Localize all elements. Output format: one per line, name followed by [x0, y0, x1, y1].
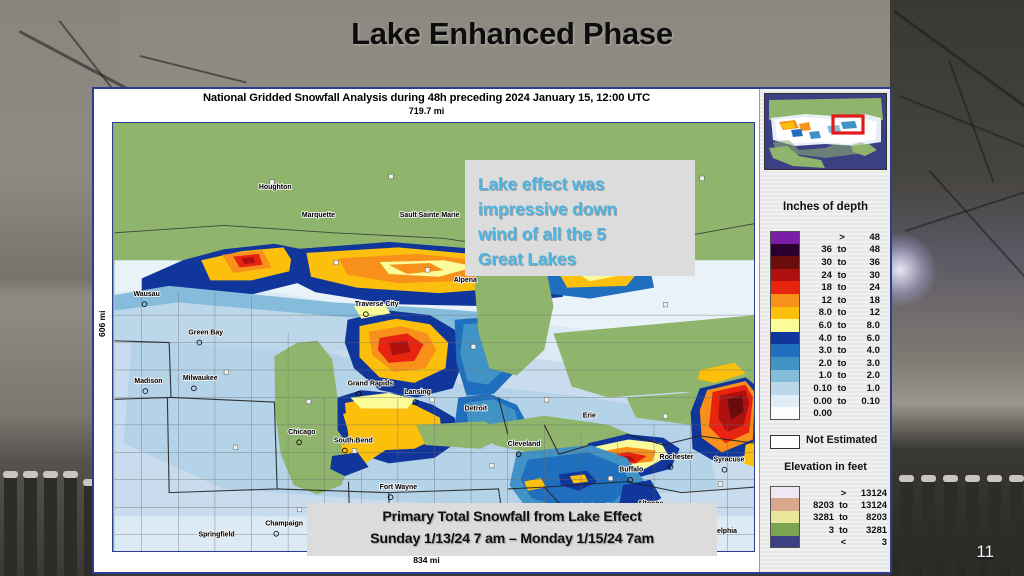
callout-line-2: impressive down [478, 197, 695, 222]
legend-depth-row-0: >48 [802, 231, 890, 244]
legend-elevation-high: 3 [853, 536, 887, 547]
legend-elevation-high: 3281 [853, 524, 887, 535]
map-scale-top: 719.7 mi [94, 106, 759, 116]
legend-depth-operator: to [832, 257, 852, 268]
legend-elevation-row-0: >13124 [802, 486, 890, 498]
legend-depth-row-5: 12to18 [802, 294, 890, 307]
map-city-label: Traverse City [355, 301, 399, 308]
legend-elevation-row-4: <3 [802, 536, 890, 548]
legend-depth-low: 0.10 [802, 383, 832, 394]
page-title: Lake Enhanced Phase [0, 16, 1024, 52]
map-city-marker [388, 495, 393, 500]
map-city-label: Lansing [404, 389, 431, 396]
legend-depth-row-4: 18to24 [802, 281, 890, 294]
legend-depth-operator: to [832, 370, 852, 381]
legend-depth-swatch-10 [770, 357, 800, 370]
map-city-marker [142, 302, 147, 307]
legend-depth-operator: to [832, 383, 852, 394]
legend-column: Inches of depth >4836to4830to3624to3018t… [759, 89, 890, 572]
legend-depth-swatch-13 [770, 395, 800, 408]
legend-depth-operator: to [832, 295, 852, 306]
map-city-label: Green Bay [188, 329, 223, 336]
legend-elevation-high: 13124 [853, 487, 887, 498]
map-city-label: Buffalo [619, 467, 643, 474]
legend-elevation-row-3: 3to3281 [802, 523, 890, 535]
legend-depth-low: 4.0 [802, 333, 832, 344]
legend-depth-low: 2.0 [802, 358, 832, 369]
map-city-marker [197, 340, 202, 345]
legend-depth-row-8: 4.0to6.0 [802, 332, 890, 345]
map-city-label: Grand Rapids [348, 381, 394, 388]
legend-depth-swatch-9 [770, 344, 800, 357]
legend-depth-swatch-1 [770, 244, 800, 257]
legend-elevation-operator: > [834, 487, 853, 498]
legend-depth-swatch-0 [770, 231, 800, 244]
map-city-label: South Bend [334, 437, 373, 444]
page-number: 11 [976, 542, 994, 562]
legend-elevation-operator: to [834, 524, 853, 535]
callout-line-4: Great Lakes [478, 247, 695, 272]
map-city-label: Springfield [198, 532, 234, 539]
map-scale-left: 606 mi [97, 311, 107, 337]
map-city-marker [413, 400, 418, 405]
map-scale-bottom: 834 mi [94, 555, 759, 565]
caption-textbox: Primary Total Snowfall from Lake Effect … [307, 503, 717, 556]
legend-depth-row-2: 30to36 [802, 256, 890, 269]
legend-depth-swatch-5 [770, 294, 800, 307]
legend-depth-low: 0.00 [802, 408, 832, 419]
legend-depth-color-ramp [770, 231, 800, 420]
legend-elevation-swatch-1 [770, 498, 800, 510]
map-city-marker [342, 448, 347, 453]
map-city-marker [628, 477, 633, 482]
legend-depth-low: 36 [802, 244, 832, 255]
legend-depth-high: 2.0 [852, 370, 880, 381]
legend-depth-low: 8.0 [802, 307, 832, 318]
map-city-marker [297, 440, 302, 445]
legend-elevation-operator: to [834, 511, 853, 522]
map-city-label: Erie [583, 413, 596, 420]
legend-elevation-operator: < [834, 536, 853, 547]
map-city-label: Champaign [265, 521, 303, 528]
map-city-marker [274, 531, 279, 536]
legend-elevation-swatch-0 [770, 486, 800, 498]
legend-depth-row-11: 1.0to2.0 [802, 370, 890, 383]
legend-depth-low: 30 [802, 257, 832, 268]
legend-depth-swatch-11 [770, 370, 800, 383]
legend-depth-high: 48 [852, 232, 880, 243]
legend-depth-swatch-12 [770, 382, 800, 395]
map-city-label: Rochester [660, 454, 694, 461]
legend-depth-high: 12 [852, 307, 880, 318]
legend-depth-operator: to [832, 358, 852, 369]
legend-depth-row-10: 2.0to3.0 [802, 357, 890, 370]
map-city-marker [192, 386, 197, 391]
caption-line-1: Primary Total Snowfall from Lake Effect [307, 509, 717, 525]
legend-depth-high: 48 [852, 244, 880, 255]
legend-elevation-high: 8203 [853, 511, 887, 522]
map-header: National Gridded Snowfall Analysis durin… [94, 89, 759, 122]
map-city-label: Sault Sainte Marie [400, 212, 460, 219]
legend-depth-low: 24 [802, 270, 832, 281]
legend-elevation-title: Elevation in feet [760, 461, 891, 473]
map-city-label: Cleveland [508, 441, 541, 448]
legend-depth-row-9: 3.0to4.0 [802, 344, 890, 357]
callout-line-3: wind of all the 5 [478, 222, 695, 247]
map-city-label: Detroit [465, 405, 488, 412]
legend-depth-high: 0.10 [852, 396, 880, 407]
united-states-locator-inset [764, 93, 887, 170]
legend-elevation-swatch-4 [770, 536, 800, 548]
legend-elevation-row-2: 3281to8203 [802, 511, 890, 523]
legend-depth-high: 4.0 [852, 345, 880, 356]
legend-not-estimated-swatch [770, 435, 800, 449]
legend-depth-high: 3.0 [852, 358, 880, 369]
legend-depth-low: 12 [802, 295, 832, 306]
legend-depth-row-6: 8.0to12 [802, 307, 890, 320]
legend-depth-swatch-8 [770, 332, 800, 345]
map-city-label: Alpena [454, 277, 477, 284]
map-city-marker [356, 391, 361, 396]
legend-elevation-labels: >131248203to131243281to82033to3281<3 [802, 486, 890, 548]
caption-line-2: Sunday 1/13/24 7 am – Monday 1/15/24 7am [307, 531, 717, 547]
callout-line-1: Lake effect was [478, 172, 695, 197]
legend-depth-title: Inches of depth [760, 201, 891, 213]
legend-elevation-high: 13124 [853, 499, 887, 510]
legend-elevation-swatch-2 [770, 511, 800, 523]
legend-depth-row-14: 0.00 [802, 407, 890, 420]
legend-depth-operator: to [832, 320, 852, 331]
legend-depth-low: 0.00 [802, 396, 832, 407]
legend-depth-low: 3.0 [802, 345, 832, 356]
map-city-marker [143, 389, 148, 394]
legend-depth-high: 24 [852, 282, 880, 293]
map-city-marker [668, 465, 673, 470]
map-city-label: Madison [134, 378, 162, 385]
legend-depth-high: 8.0 [852, 320, 880, 331]
legend-depth-row-12: 0.10to1.0 [802, 382, 890, 395]
map-city-marker [364, 312, 369, 317]
map-header-title: National Gridded Snowfall Analysis durin… [94, 92, 759, 104]
legend-depth-high: 30 [852, 270, 880, 281]
map-city-marker [722, 467, 727, 472]
legend-depth-high: 1.0 [852, 383, 880, 394]
legend-depth-low: 6.0 [802, 320, 832, 331]
legend-depth-row-3: 24to30 [802, 269, 890, 282]
legend-depth-high: 6.0 [852, 333, 880, 344]
legend-depth-operator: to [832, 333, 852, 344]
legend-depth-operator: to [832, 244, 852, 255]
legend-depth-row-13: 0.00to0.10 [802, 395, 890, 408]
map-city-label: Marquette [302, 212, 335, 219]
map-city-label: Wausau [134, 291, 160, 298]
legend-depth-low: 1.0 [802, 370, 832, 381]
legend-depth-operator: to [832, 282, 852, 293]
legend-depth-high: 18 [852, 295, 880, 306]
legend-depth-swatch-14 [770, 407, 800, 420]
legend-depth-swatch-6 [770, 307, 800, 320]
legend-depth-row-7: 6.0to8.0 [802, 319, 890, 332]
map-city-label: Chicago [288, 429, 315, 436]
legend-depth-operator: to [832, 270, 852, 281]
legend-depth-operator: to [832, 396, 852, 407]
map-city-label: Fort Wayne [380, 484, 418, 491]
map-city-marker [516, 452, 521, 457]
legend-depth-swatch-3 [770, 269, 800, 282]
legend-depth-swatch-7 [770, 319, 800, 332]
legend-elevation-low: 3 [802, 524, 834, 535]
legend-not-estimated-label: Not Estimated [806, 434, 877, 446]
map-city-label: Milwaukee [183, 375, 218, 382]
legend-elevation-low: 3281 [802, 511, 834, 522]
legend-elevation-low: 8203 [802, 499, 834, 510]
legend-depth-labels: >4836to4830to3624to3018to2412to188.0to12… [802, 231, 890, 420]
legend-depth-swatch-4 [770, 281, 800, 294]
legend-depth-low: 18 [802, 282, 832, 293]
callout-textbox: Lake effect was impressive down wind of … [465, 160, 695, 276]
legend-depth-high: 36 [852, 257, 880, 268]
map-city-label: Syracuse [714, 457, 745, 464]
legend-elevation-swatch-3 [770, 523, 800, 535]
legend-depth-swatch-2 [770, 256, 800, 269]
legend-depth-row-1: 36to48 [802, 244, 890, 257]
legend-depth-operator: > [832, 232, 852, 243]
legend-elevation-row-1: 8203to13124 [802, 498, 890, 510]
legend-elevation-color-ramp [770, 486, 800, 548]
legend-depth-operator: to [832, 345, 852, 356]
map-city-label: Houghton [259, 184, 292, 191]
legend-depth-operator: to [832, 307, 852, 318]
legend-elevation-operator: to [834, 499, 853, 510]
